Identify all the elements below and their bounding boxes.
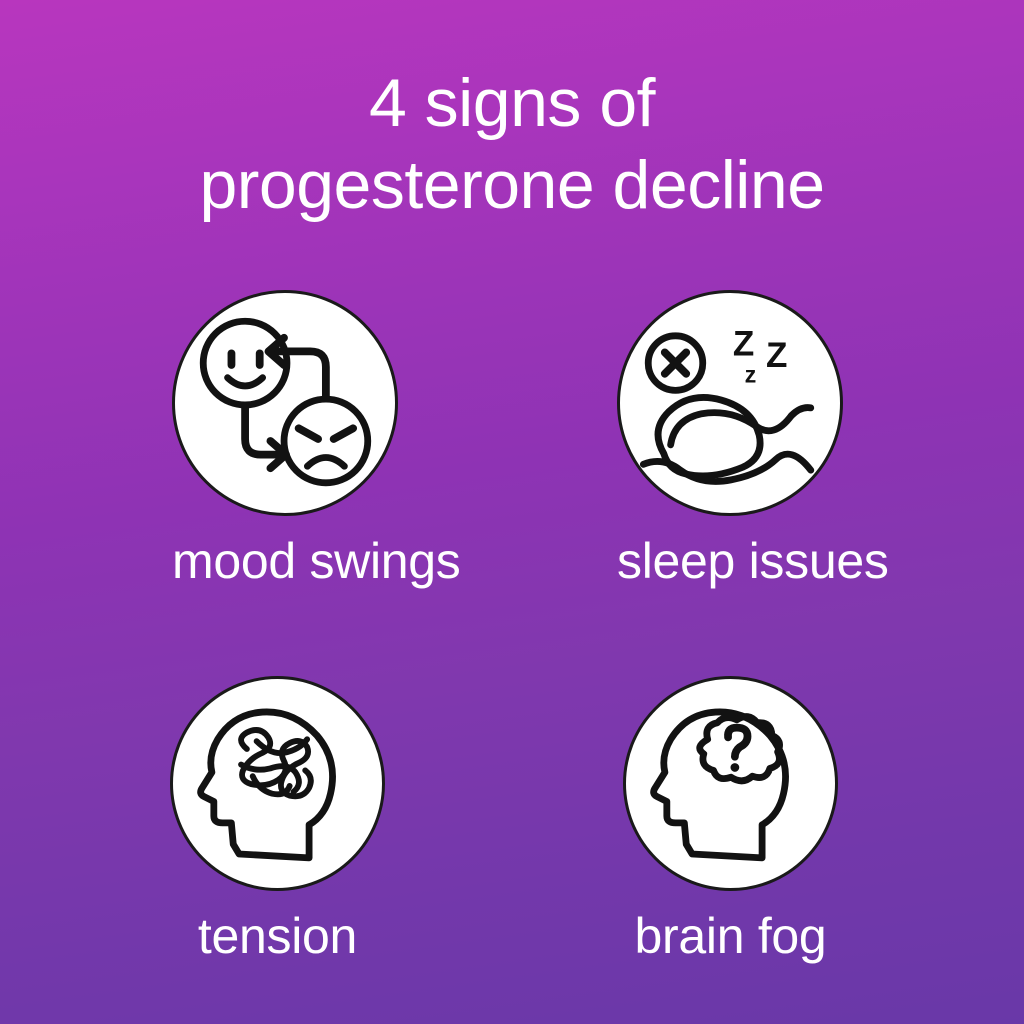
item-label-tension: tension: [170, 908, 385, 964]
icon-disc-mood-swings: [172, 290, 398, 516]
swap-arrow-down-right: [245, 406, 286, 468]
title-line-2: progesterone decline: [0, 144, 1024, 226]
item-mood-swings: mood swings: [172, 290, 398, 620]
crossed-circle-icon: [648, 336, 703, 391]
sleeping-person: [658, 397, 811, 475]
item-sleep-issues: Z Z z sleep issues: [617, 290, 843, 620]
item-label-brain-fog: brain fog: [623, 908, 838, 964]
zzz-letters: Z Z z: [733, 324, 788, 387]
z-letter-large-right: Z: [766, 336, 787, 375]
mood-swings-icon: [175, 293, 395, 513]
tension-icon: [173, 679, 382, 888]
title-line-1: 4 signs of: [0, 62, 1024, 144]
tangled-scribble: [241, 730, 311, 796]
z-letter-small: z: [745, 362, 757, 388]
icon-disc-tension: [170, 676, 385, 891]
sleep-issues-icon: Z Z z: [620, 293, 840, 513]
infographic-poster: 4 signs of progesterone decline: [0, 0, 1024, 1024]
question-mark-dot: [731, 763, 740, 772]
smiley-face: [203, 321, 287, 405]
icon-disc-brain-fog: [623, 676, 838, 891]
question-mark-icon: [728, 728, 748, 772]
brain-fog-icon: [626, 679, 835, 888]
icon-disc-sleep-issues: Z Z z: [617, 290, 843, 516]
page-title: 4 signs of progesterone decline: [0, 62, 1024, 226]
item-brain-fog: brain fog: [623, 676, 838, 996]
head-profile: [654, 712, 786, 858]
item-tension: tension: [170, 676, 385, 996]
item-label-sleep-issues: sleep issues: [617, 533, 843, 589]
z-letter-large-left: Z: [733, 324, 754, 363]
angry-face: [284, 399, 368, 483]
item-label-mood-swings: mood swings: [172, 533, 398, 589]
